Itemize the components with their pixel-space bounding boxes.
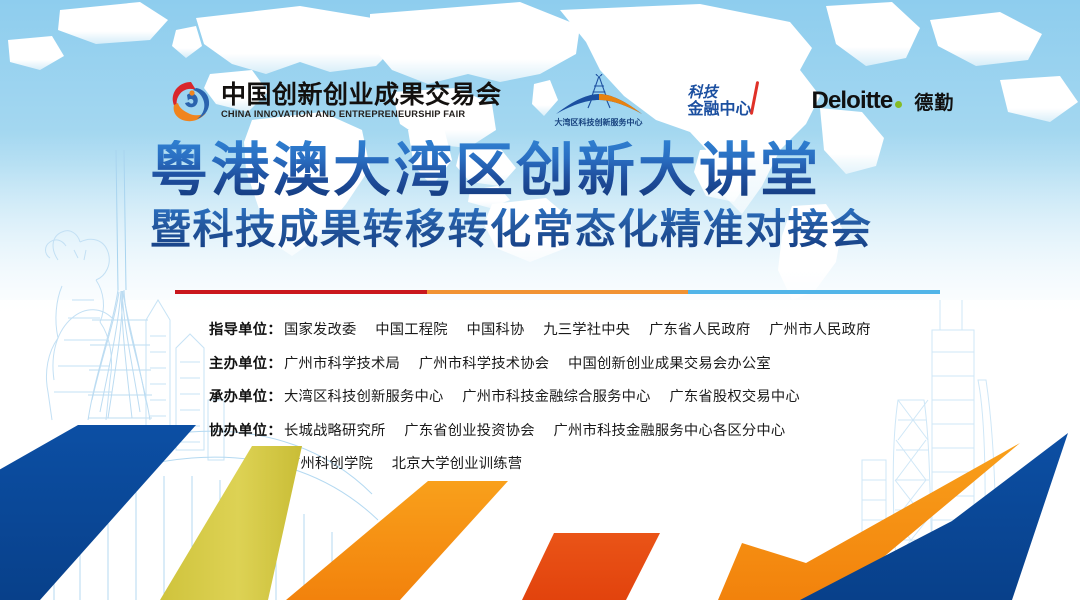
organizer-names: 国家发改委 中国工程院 中国科协 九三学社中央 广东省人民政府 广州市人民政府	[284, 318, 871, 339]
shape-yellow-band	[160, 446, 302, 600]
organizer-name: 广州市人民政府	[769, 322, 870, 338]
deloitte-chinese-name: 德勤	[914, 88, 954, 115]
organizer-name: 广东省人民政府	[649, 322, 750, 338]
organizer-name: 大湾区科技创新服务中心	[284, 389, 443, 405]
cief-chinese-name: 中国创新创业成果交易会	[221, 82, 502, 107]
cief-swirl-icon	[168, 79, 214, 123]
organizer-label: 主办单位：	[209, 352, 282, 373]
headline-block: 粤港澳大湾区创新大讲堂 暨科技成果转移转化常态化精准对接会	[150, 140, 950, 251]
bottom-decorative-shapes	[0, 415, 1080, 600]
organizer-row-guiding: 指导单位： 国家发改委 中国工程院 中国科协 九三学社中央 广东省人民政府 广州…	[209, 318, 1009, 339]
organizer-name: 九三学社中央	[543, 322, 630, 338]
organizer-name: 广州市科技金融综合服务中心	[462, 389, 650, 405]
shape-orange-band	[286, 481, 508, 600]
organizer-name: 广州市科学技术局	[284, 356, 400, 372]
organizer-name: 国家发改委	[284, 322, 356, 338]
organizer-names: 大湾区科技创新服务中心 广州市科技金融综合服务中心 广东省股权交易中心	[284, 385, 800, 406]
organizer-label: 指导单位：	[209, 318, 282, 339]
organizer-name: 中国工程院	[375, 322, 447, 338]
logo-gba-tech-center: 大湾区科技创新服务中心	[552, 74, 646, 128]
organizer-name: 中国科协	[466, 322, 524, 338]
organizer-name: 广州市科学技术协会	[419, 356, 549, 372]
cief-text: 中国创新创业成果交易会 CHINA INNOVATION AND ENTREPR…	[221, 82, 502, 119]
deloitte-green-dot-icon	[895, 101, 902, 108]
organizer-row-host: 主办单位： 广州市科学技术局 广州市科学技术协会 中国创新创业成果交易会办公室	[209, 352, 1009, 373]
shape-red-parallelogram	[522, 533, 660, 600]
page-subtitle: 暨科技成果转移转化常态化精准对接会	[150, 208, 950, 251]
page-title: 粤港澳大湾区创新大讲堂	[150, 140, 950, 200]
logo-cief: 中国创新创业成果交易会 CHINA INNOVATION AND ENTREPR…	[168, 79, 502, 123]
tech-finance-line1: 科技	[688, 85, 752, 100]
deloitte-word-text: Deloitte	[812, 87, 893, 114]
tricolor-divider	[175, 290, 940, 294]
organizer-row-organizer: 承办单位： 大湾区科技创新服务中心 广州市科技金融综合服务中心 广东省股权交易中…	[209, 385, 1009, 406]
divider-segment-red	[175, 290, 427, 294]
logo-deloitte: Deloitte 德勤	[812, 87, 955, 115]
cief-english-name: CHINA INNOVATION AND ENTREPRENEURSHIP FA…	[221, 110, 502, 119]
divider-segment-orange	[427, 290, 687, 294]
organizer-label: 承办单位：	[209, 385, 282, 406]
gba-caption: 大湾区科技创新服务中心	[555, 117, 643, 128]
organizer-name: 广东省股权交易中心	[669, 389, 799, 405]
organizer-names: 广州市科学技术局 广州市科学技术协会 中国创新创业成果交易会办公室	[284, 352, 771, 373]
shape-blue-band	[0, 425, 196, 600]
event-poster: 中国创新创业成果交易会 CHINA INNOVATION AND ENTREPR…	[0, 0, 1080, 600]
deloitte-wordmark: Deloitte	[812, 87, 903, 115]
organizer-name: 中国创新创业成果交易会办公室	[568, 356, 771, 372]
divider-segment-blue	[688, 290, 940, 294]
tech-finance-line2: 金融中心	[688, 101, 752, 117]
sponsor-logo-row: 中国创新创业成果交易会 CHINA INNOVATION AND ENTREPR…	[168, 70, 958, 132]
logo-tech-finance-center: 科技 金融中心	[688, 85, 752, 118]
